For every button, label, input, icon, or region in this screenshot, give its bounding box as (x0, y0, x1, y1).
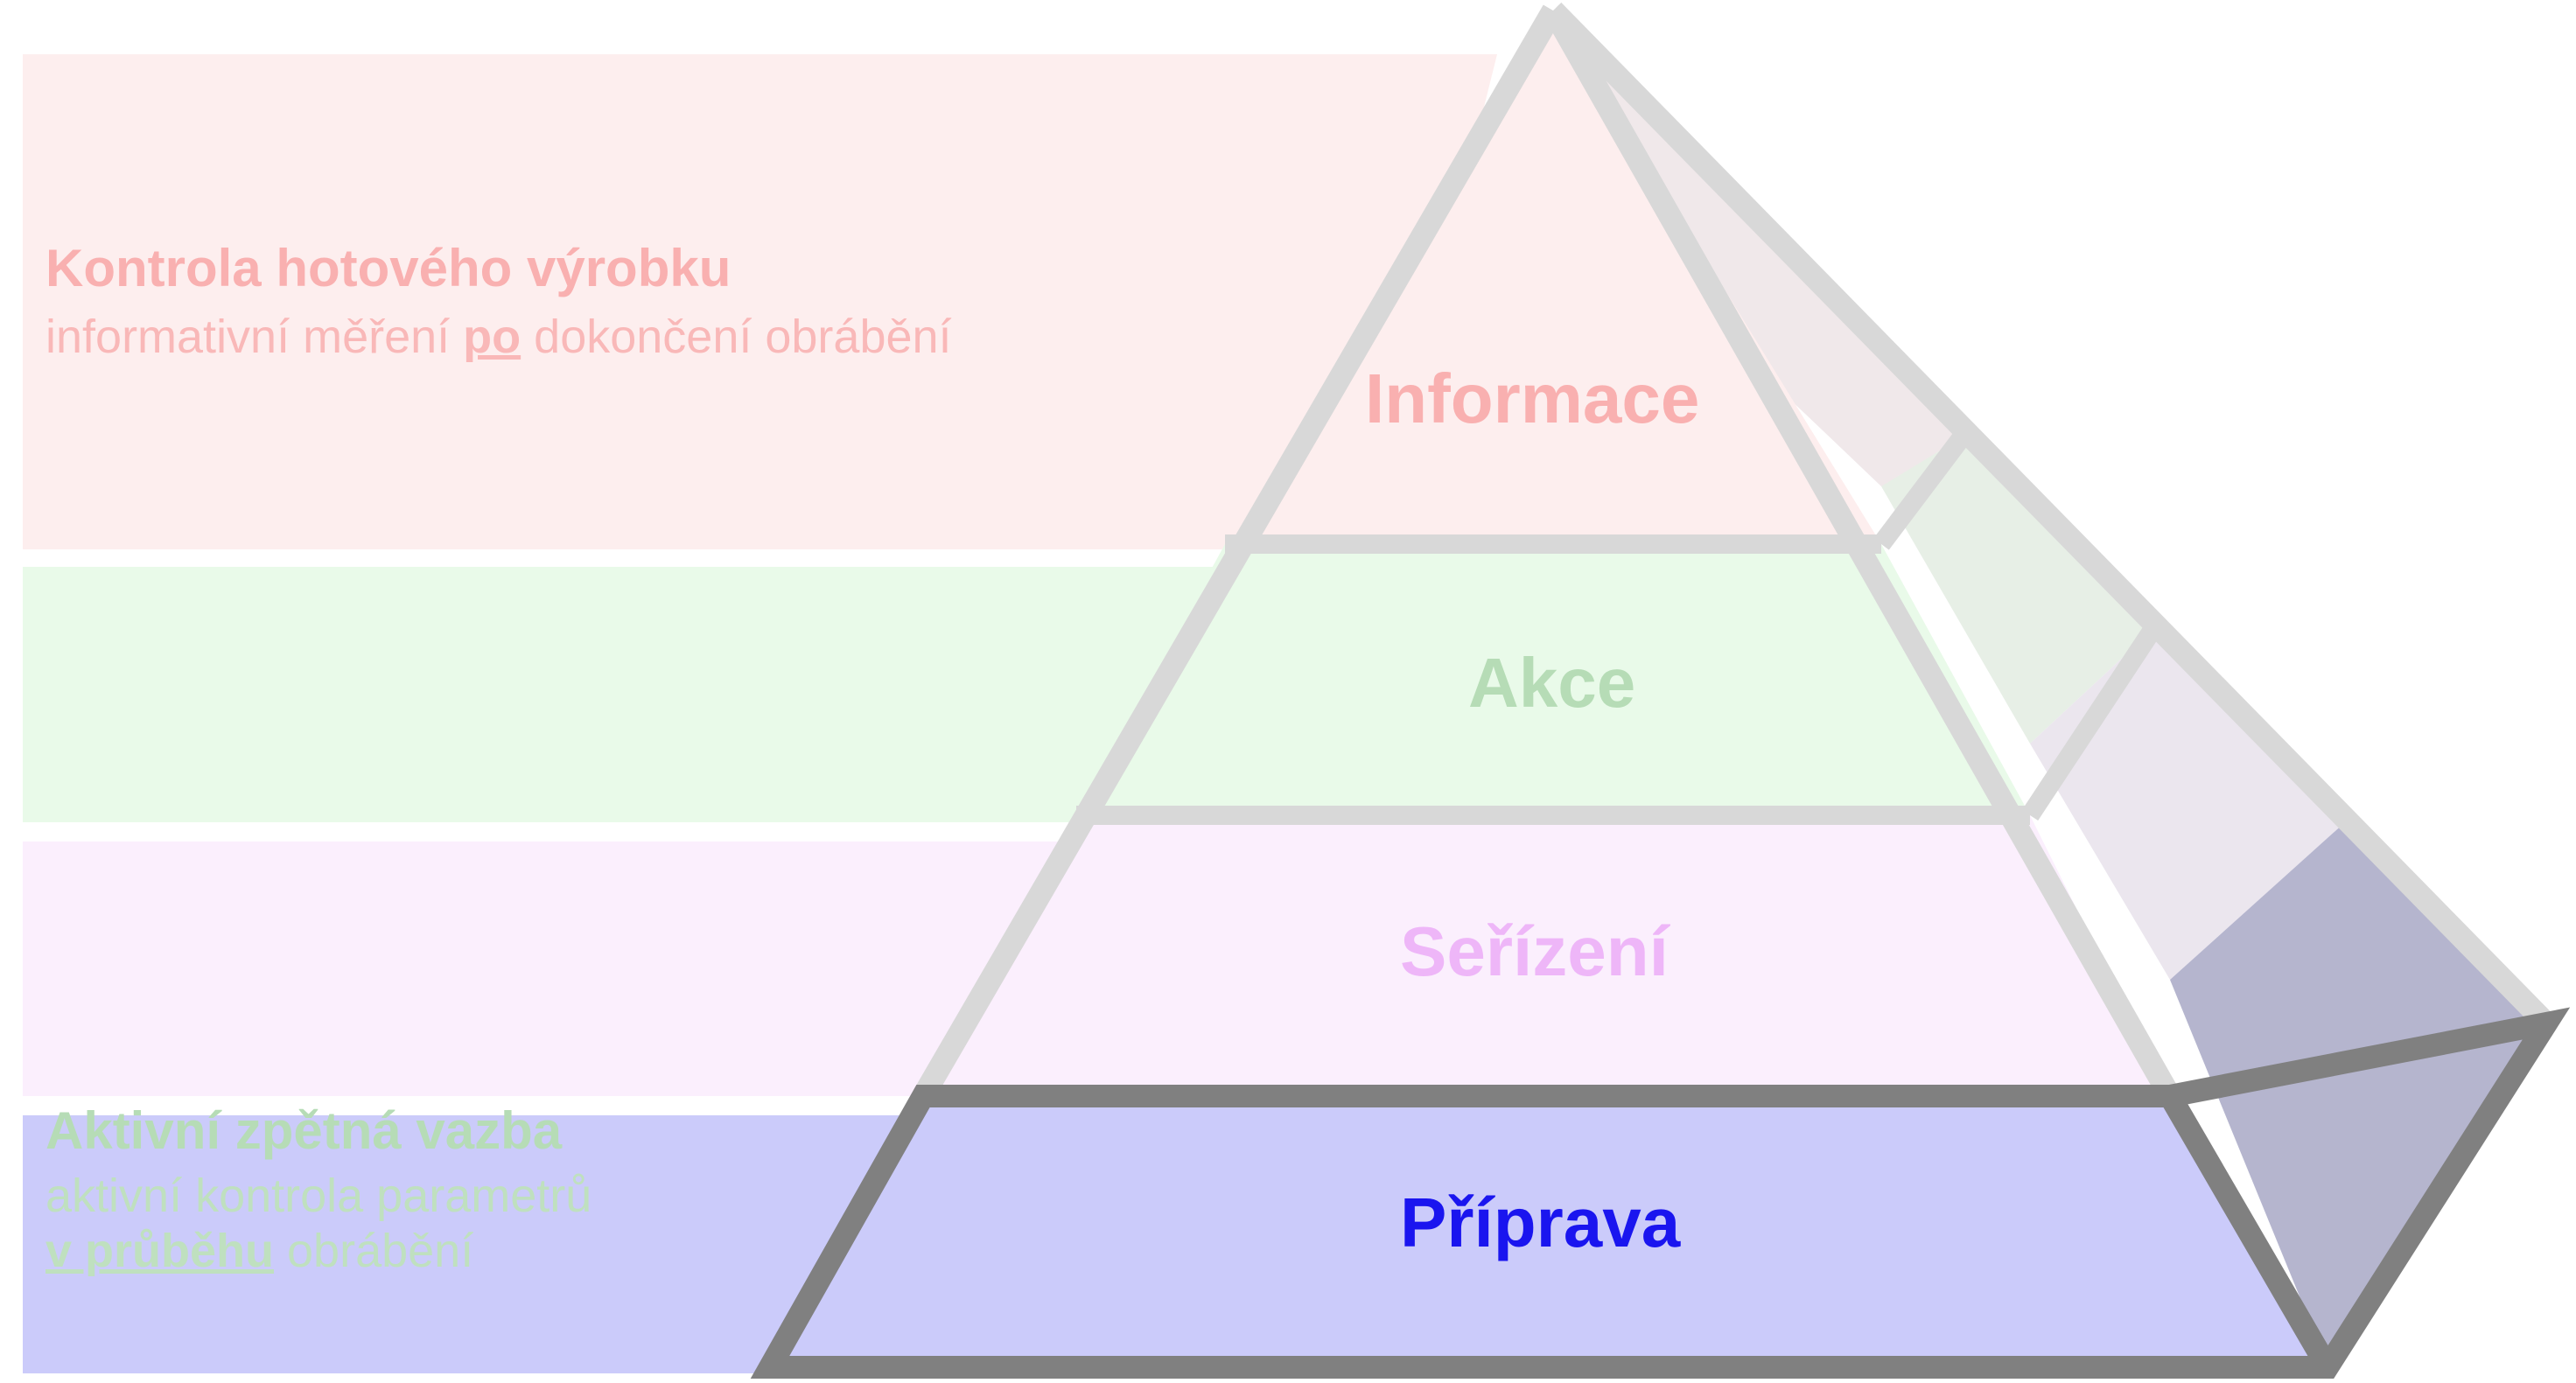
side-divider-akce-serizeni (2030, 630, 2152, 815)
panel-sub-akce-line2: v průběhu obrábění (45, 1224, 1137, 1279)
outline-back-ridge (1553, 10, 2546, 1023)
panel-title-informace: Kontrola hotového výrobku (45, 239, 1225, 297)
panel-sub-informace: informativní měření po dokončení obráběn… (45, 310, 1225, 365)
tier-label-informace: Informace (1365, 359, 1699, 439)
panel-title-akce: Aktivní zpětná vazba (45, 1101, 1137, 1160)
pyramid-side-face (1553, 10, 2546, 1365)
side-quad-priprava (2170, 822, 2546, 1365)
panel-akce: Aktivní zpětná vazba aktivní kontrola pa… (0, 1062, 1137, 1317)
panel-informace: Kontrola hotového výrobku informativní m… (0, 54, 1225, 549)
side-divider-informace-akce (1881, 437, 1962, 544)
tier-label-priprava: Příprava (1400, 1183, 1680, 1263)
panel-sub-akce-line1: aktivní kontrola parametrů (45, 1169, 1137, 1224)
panel-sub-akce-post: obrábění (274, 1225, 473, 1277)
panel-bg-akce (23, 567, 1312, 822)
panel-bg-serizeni (23, 842, 1124, 1096)
tier-front-informace (1225, 10, 1881, 544)
tier-label-akce: Akce (1468, 643, 1635, 723)
outline-base-side-edge (2170, 1096, 2327, 1367)
side-quad-serizeni (2030, 630, 2345, 980)
tier-label-serizeni: Seřízení (1400, 912, 1669, 992)
panel-sub-informace-em: po (463, 311, 521, 363)
pyramid-diagram-canvas: Informace Akce Seřízení Příprava Kontrol… (0, 0, 2576, 1383)
panel-sub-akce-em: v průběhu (45, 1225, 274, 1277)
panel-sub-informace-pre: informativní měření (45, 311, 463, 363)
panel-sub-informace-post: dokončení obrábění (521, 311, 951, 363)
side-quad-akce (1881, 437, 2152, 744)
